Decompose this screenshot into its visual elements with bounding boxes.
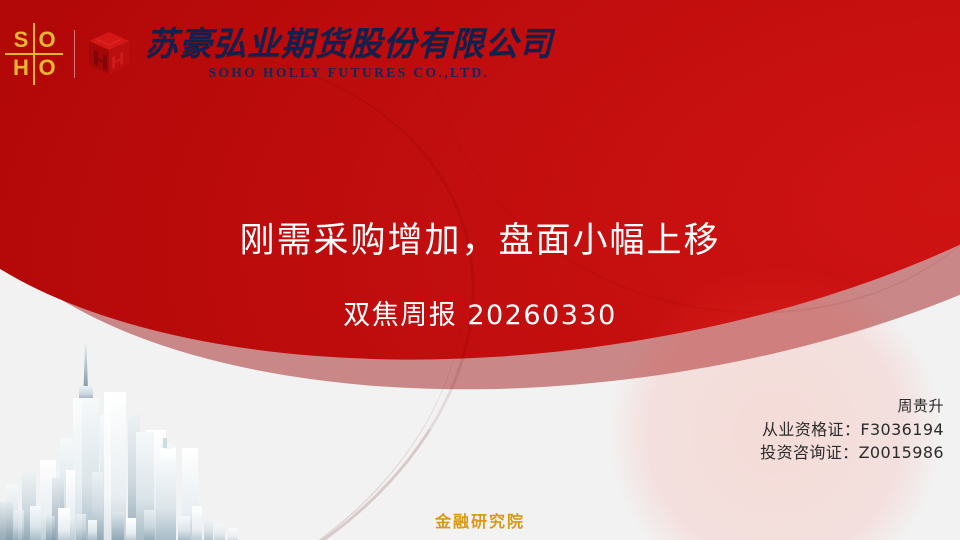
author-name: 周贵升 [760,396,944,417]
company-name-cn: 苏豪弘业期货股份有限公司 [145,29,553,62]
soho-letter-s: S [8,26,34,54]
company-name-block: 苏豪弘业期货股份有限公司 SOHO HOLLY FUTURES CO.,LTD. [145,29,553,80]
soho-grid-line-vertical [33,23,35,85]
brand-logo-lockup: S O H O 苏豪弘业期货股份有限公司 SOHO HOLLY FUTURES … [8,18,553,90]
author-consulting-certificate: 投资咨询证：Z0015986 [760,442,944,465]
author-credentials-block: 周贵升 从业资格证：F3036194 投资咨询证：Z0015986 [760,396,944,465]
soho-cube-icon [87,30,131,78]
company-name-en: SOHO HOLLY FUTURES CO.,LTD. [145,66,553,80]
report-cover-slide: S O H O 苏豪弘业期货股份有限公司 SOHO HOLLY FUTURES … [0,0,960,540]
soho-monogram-icon: S O H O [8,26,60,82]
report-title: 刚需采购增加，盘面小幅上移 [0,212,960,263]
department-footer: 金融研究院 [0,508,960,532]
soho-letter-o-bottom: O [34,54,60,82]
soho-letter-o-top: O [34,26,60,54]
author-practice-certificate: 从业资格证：F3036194 [760,419,944,442]
report-subtitle: 双焦周报 20260330 [0,293,960,332]
soho-letter-h: H [8,54,34,82]
logo-divider [74,30,75,78]
